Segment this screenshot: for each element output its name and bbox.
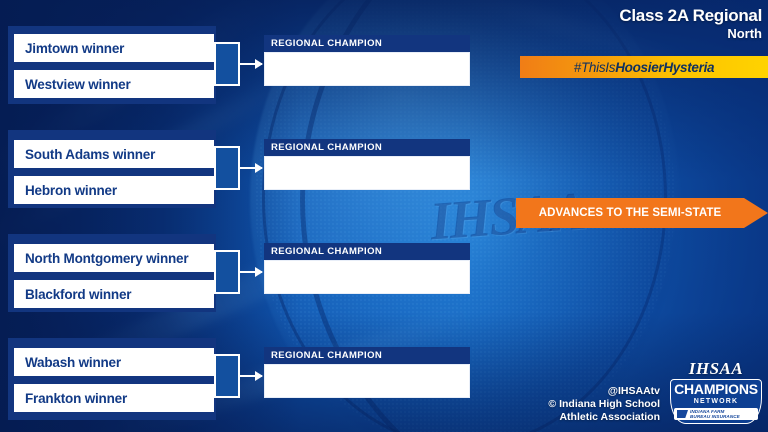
champion-entry-1[interactable] [264,52,470,86]
champion-block-2: REGIONAL CHAMPION [264,139,470,190]
champion-entry-4[interactable] [264,364,470,398]
champion-entry-3[interactable] [264,260,470,294]
team-slot-1-top[interactable]: Jimtown winner [14,34,214,62]
team-slot-2-bottom[interactable]: Hebron winner [14,176,214,204]
twitter-handle: @IHSAAtv [548,385,660,398]
champion-label-1: REGIONAL CHAMPION [264,35,470,52]
footer: @IHSAAtv © Indiana High School Athletic … [548,360,762,424]
bracket-connector-4 [214,354,240,398]
advances-banner: ADVANCES TO THE SEMI-STATE [516,198,768,228]
bracket-pair-2: South Adams winner Hebron winner [8,130,216,208]
logo-champions-text: CHAMPIONS [674,382,758,397]
team-name: Wabash winner [14,355,121,370]
advances-banner-label: ADVANCES TO THE SEMI-STATE [539,207,722,219]
champion-block-1: REGIONAL CHAMPION [264,35,470,86]
team-name: Westview winner [14,77,131,92]
bracket-arrow-1-icon [240,63,262,65]
team-name: Frankton winner [14,391,127,406]
page-title: Class 2A Regional [518,6,762,26]
bracket-arrow-3-icon [240,271,262,273]
team-name: South Adams winner [14,147,155,162]
farm-bureau-mark-icon [677,410,688,418]
team-slot-4-bottom[interactable]: Frankton winner [14,384,214,412]
bracket-connector-1 [214,42,240,86]
bracket-connector-3 [214,250,240,294]
copyright-line-2: Athletic Association [548,411,660,424]
sponsor-badge: INDIANA FARM BUREAU INSURANCE [674,408,758,420]
bracket-arrow-2-icon [240,167,262,169]
ihsaa-champions-network-logo: IHSAA CHAMPIONS NETWORK INDIANA FARM BUR… [670,360,762,424]
bracket-pair-4: Wabash winner Frankton winner [8,338,216,420]
team-slot-2-top[interactable]: South Adams winner [14,140,214,168]
logo-shield-icon: CHAMPIONS NETWORK INDIANA FARM BUREAU IN… [670,379,762,424]
team-name: Jimtown winner [14,41,124,56]
team-slot-4-top[interactable]: Wabash winner [14,348,214,376]
team-name: North Montgomery winner [14,251,188,266]
header: Class 2A Regional North [518,6,762,42]
hashtag-suffix: HoosierHysteria [615,60,714,75]
champion-block-4: REGIONAL CHAMPION [264,347,470,398]
footer-credits: @IHSAAtv © Indiana High School Athletic … [548,385,660,424]
hashtag-banner: #ThisIsHoosierHysteria [520,56,768,78]
copyright-line-1: © Indiana High School [548,398,660,411]
champion-label-3: REGIONAL CHAMPION [264,243,470,260]
bracket-arrow-4-icon [240,375,262,377]
team-name: Blackford winner [14,287,131,302]
graphic-canvas: IHSAA Jimtown winner Westview winner REG… [0,0,768,432]
team-slot-3-bottom[interactable]: Blackford winner [14,280,214,308]
champion-label-2: REGIONAL CHAMPION [264,139,470,156]
sponsor-text: INDIANA FARM BUREAU INSURANCE [690,409,740,419]
team-name: Hebron winner [14,183,117,198]
advances-banner-arrow-icon [744,198,768,228]
logo-network-text: NETWORK [674,397,758,406]
advances-banner-body: ADVANCES TO THE SEMI-STATE [516,198,744,228]
champion-label-4: REGIONAL CHAMPION [264,347,470,364]
bracket-pair-1: Jimtown winner Westview winner [8,26,216,104]
champion-block-3: REGIONAL CHAMPION [264,243,470,294]
sponsor-line-2: BUREAU INSURANCE [690,414,740,419]
team-slot-3-top[interactable]: North Montgomery winner [14,244,214,272]
bracket-pair-3: North Montgomery winner Blackford winner [8,234,216,312]
champion-entry-2[interactable] [264,156,470,190]
page-subtitle: North [518,26,762,42]
logo-ihsaa-text: IHSAA [670,360,762,378]
hashtag-prefix: #ThisIs [574,60,615,75]
hashtag-text: #ThisIsHoosierHysteria [574,60,714,75]
team-slot-1-bottom[interactable]: Westview winner [14,70,214,98]
bracket-connector-2 [214,146,240,190]
